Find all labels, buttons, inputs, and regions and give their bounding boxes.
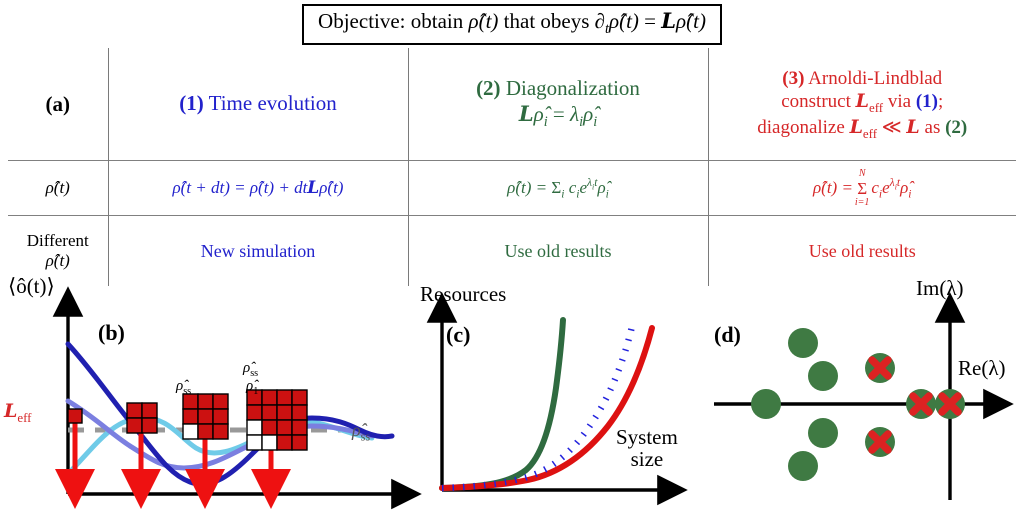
row2-label-line1: Different bbox=[12, 231, 104, 251]
eigenvalue-dot bbox=[808, 361, 838, 391]
panel-b-leff-label: Leff bbox=[4, 400, 31, 426]
col2-subtitle: Lρ̂i = λiρ̂i bbox=[413, 101, 704, 131]
cell-time-evolution-eq: ρ̂(t + dt) = ρ̂(t) + dtLρ̂(t) bbox=[108, 161, 408, 216]
matrix-4 bbox=[247, 390, 307, 450]
eigenvalue-dot bbox=[808, 418, 838, 448]
cell-arnoldi-eq: ρ̂(t) = N Σ i=1 cieλitρ̂i bbox=[708, 161, 1016, 216]
eigenvalue-dot bbox=[788, 328, 818, 358]
cell-arnoldi-cost: Use old results bbox=[708, 216, 1016, 287]
objective-rho: ρ̂(t) bbox=[469, 9, 499, 33]
panel-b-label: (b) bbox=[98, 320, 125, 346]
panel-a-label-cell: (a) bbox=[8, 48, 108, 161]
panel-c-xlabel-line2: size bbox=[616, 448, 678, 470]
cell-diagonalization-cost: Use old results bbox=[408, 216, 708, 287]
matrix-4-label-rho1: ρ̂1 bbox=[246, 378, 258, 397]
matrix-2 bbox=[127, 403, 157, 433]
panel-c-xlabel: System size bbox=[616, 426, 678, 470]
panel-d: Im(λ) (d) Re(λ) bbox=[690, 278, 1024, 512]
table-header-time-evolution[interactable]: (1) Time evolution bbox=[108, 48, 408, 161]
eigenvalue-dot bbox=[788, 451, 818, 481]
comparison-table: (a) (1) Time evolution (2) Diagonalizati… bbox=[8, 48, 1016, 286]
cost-time-evolution: New simulation bbox=[201, 241, 316, 261]
panel-b-ylabel: ⟨ô(t)⟩ bbox=[8, 274, 55, 299]
col3-line3: diagonalize Leff ≪ L as (2) bbox=[713, 116, 1013, 142]
objective-box: Objective: obtain ρ̂(t) that obeys ∂tρ̂(… bbox=[302, 4, 722, 45]
matrix-4-label-ss: ρ̂ss bbox=[243, 360, 258, 379]
panel-c-ylabel: Resources bbox=[420, 282, 506, 307]
panel-d-plot bbox=[690, 278, 1024, 512]
panel-d-ylabel: Im(λ) bbox=[916, 276, 964, 301]
col3-number: (3) bbox=[782, 68, 804, 89]
objective-liouvillian: L bbox=[661, 8, 676, 33]
col3-line2: construct Leff via (1); bbox=[713, 90, 1013, 116]
panel-b-plot bbox=[0, 278, 440, 512]
objective-partial: ∂ bbox=[595, 9, 605, 33]
figure-root: Objective: obtain ρ̂(t) that obeys ∂tρ̂(… bbox=[0, 0, 1024, 512]
panel-d-label: (d) bbox=[714, 322, 741, 348]
objective-middle: that obeys bbox=[498, 9, 594, 33]
eq-arnoldi: ρ̂(t) = N Σ i=1 cieλitρ̂i bbox=[813, 178, 911, 197]
panel-b: ⟨ô(t)⟩ (b) Leff t ρ̂ss ρ̂ss ρ̂ss ρ̂1 bbox=[0, 278, 440, 512]
eigenvalue-dot bbox=[751, 389, 781, 419]
panel-a-label: (a) bbox=[46, 92, 71, 116]
panel-b-curve-dark bbox=[68, 344, 392, 484]
panel-b-ss-label: ρ̂ss bbox=[352, 420, 370, 445]
row2-label-line2: ρ̂(t) bbox=[12, 251, 104, 271]
row1-label: ρ̂(t) bbox=[46, 178, 70, 197]
cell-time-evolution-cost: New simulation bbox=[108, 216, 408, 287]
matrix-1 bbox=[68, 409, 82, 423]
col2-number: (2) bbox=[476, 76, 501, 100]
panel-c-plot bbox=[420, 278, 700, 512]
panel-d-xlabel: Re(λ) bbox=[958, 356, 1006, 381]
table-header-diagonalization[interactable]: (2) Diagonalization Lρ̂i = λiρ̂i bbox=[408, 48, 708, 161]
row-label-rho: ρ̂(t) bbox=[8, 161, 108, 216]
col3-title: Arnoldi-Lindblad bbox=[808, 68, 942, 89]
cell-diagonalization-eq: ρ̂(t) = Σi cieλitρ̂i bbox=[408, 161, 708, 216]
objective-lhs-rho: ρ̂(t) bbox=[609, 9, 639, 33]
cost-diagonalization: Use old results bbox=[505, 241, 612, 261]
objective-equals: = bbox=[639, 9, 661, 33]
panel-c-xlabel-line1: System bbox=[616, 426, 678, 448]
table-header-arnoldi-lindblad[interactable]: (3) Arnoldi-Lindblad construct Leff via … bbox=[708, 48, 1016, 161]
eq-time-evolution: ρ̂(t + dt) = ρ̂(t) + dtLρ̂(t) bbox=[173, 178, 344, 197]
table-row-different-rho: Different ρ̂(t) New simulation Use old r… bbox=[8, 216, 1016, 287]
panel-c-curve-blue-dotted bbox=[442, 322, 633, 488]
col2-title: Diagonalization bbox=[506, 76, 640, 100]
panel-b-xlabel: t bbox=[400, 482, 405, 503]
objective-prefix: Objective: obtain bbox=[318, 9, 468, 33]
panel-c-label: (c) bbox=[446, 322, 470, 348]
table-row-rho-of-t: ρ̂(t) ρ̂(t + dt) = ρ̂(t) + dtLρ̂(t) ρ̂(t… bbox=[8, 161, 1016, 216]
objective-rhs-rho: ρ̂(t) bbox=[676, 9, 706, 33]
col1-number: (1) bbox=[179, 91, 204, 115]
cost-arnoldi: Use old results bbox=[809, 241, 916, 261]
table-header-row: (a) (1) Time evolution (2) Diagonalizati… bbox=[8, 48, 1016, 161]
panel-c: Resources (c) System size bbox=[420, 278, 700, 512]
matrix-3 bbox=[183, 394, 228, 439]
objective-banner: Objective: obtain ρ̂(t) that obeys ∂tρ̂(… bbox=[0, 4, 1024, 45]
matrix-3-label: ρ̂ss bbox=[176, 378, 191, 397]
col1-title: Time evolution bbox=[209, 91, 337, 115]
eq-diagonalization: ρ̂(t) = Σi cieλitρ̂i bbox=[507, 178, 609, 197]
